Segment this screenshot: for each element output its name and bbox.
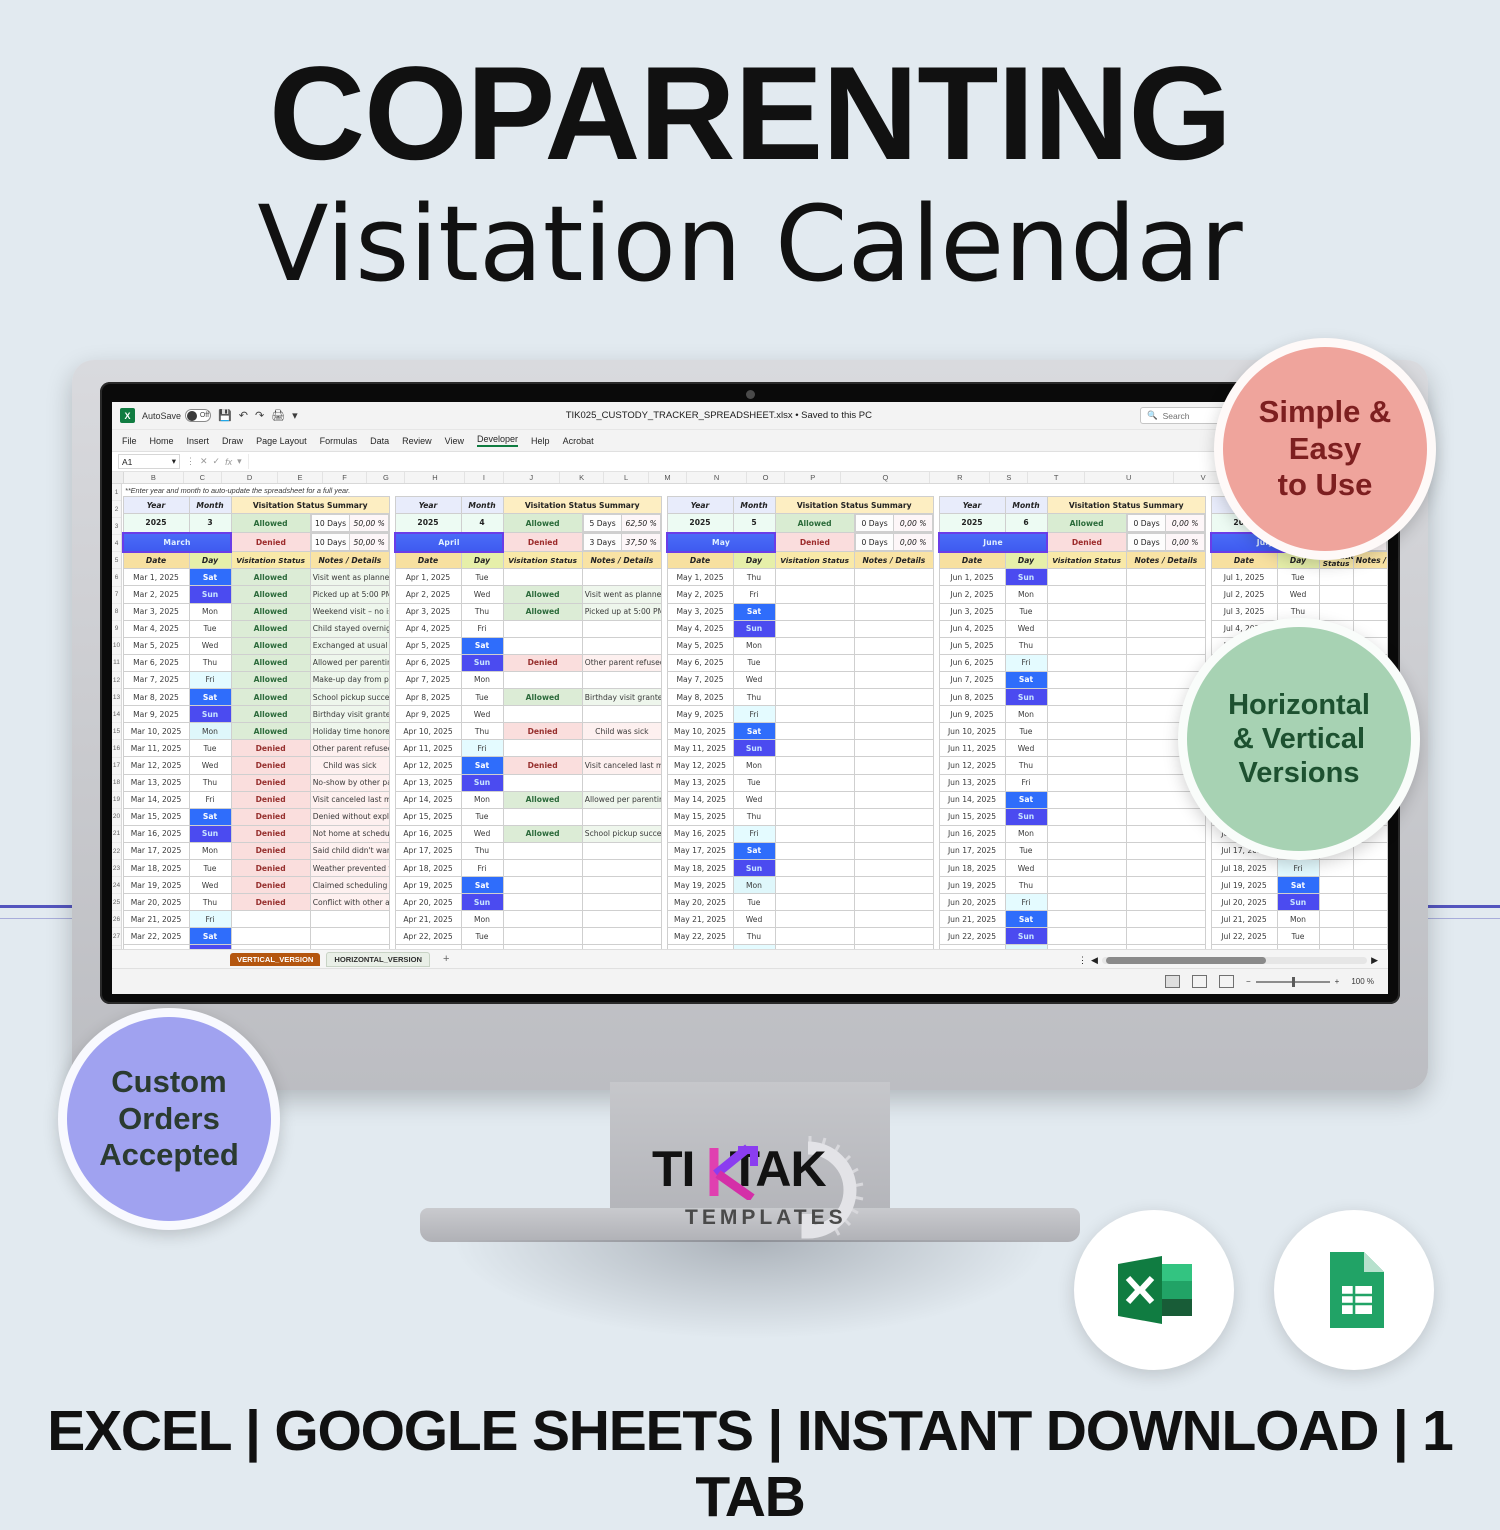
row-header-9[interactable]: 9 xyxy=(112,621,121,638)
header-year[interactable]: Year xyxy=(939,497,1005,514)
cell-date[interactable]: Apr 4, 2025 xyxy=(395,620,461,637)
cell-notes[interactable] xyxy=(1353,569,1387,586)
cell-visitation-status[interactable] xyxy=(1047,859,1126,876)
summary-denied-pct[interactable]: 0,00 % xyxy=(1166,534,1205,551)
cell-date[interactable]: Mar 11, 2025 xyxy=(123,740,189,757)
undo-icon[interactable]: ↶ xyxy=(239,409,248,422)
summary-allowed-pct[interactable]: 0,00 % xyxy=(1166,515,1205,532)
cell-day[interactable]: Tue xyxy=(189,740,231,757)
cell-day[interactable]: Sun xyxy=(1277,894,1319,911)
cell-day[interactable]: Fri xyxy=(1005,894,1047,911)
cell-date[interactable]: Jul 21, 2025 xyxy=(1211,911,1277,928)
cell-date[interactable]: Apr 16, 2025 xyxy=(395,825,461,842)
cell-visitation-status[interactable]: Denied xyxy=(231,842,310,859)
cell-day[interactable]: Thu xyxy=(733,928,775,945)
cell-date[interactable]: Jun 3, 2025 xyxy=(939,603,1005,620)
column-header-R[interactable]: R xyxy=(930,472,990,483)
cell-day[interactable]: Tue xyxy=(733,774,775,791)
insert-function-icon[interactable]: fx xyxy=(225,457,232,467)
cell-notes[interactable] xyxy=(582,706,661,723)
cell-notes[interactable]: School pickup successful xyxy=(582,825,661,842)
col-label-visitation-status[interactable]: Visitation Status xyxy=(503,552,582,569)
add-sheet-button[interactable]: + xyxy=(436,951,456,967)
value-year[interactable]: 2025 xyxy=(667,514,733,533)
cell-date[interactable]: Mar 1, 2025 xyxy=(123,569,189,586)
cell-day[interactable]: Mon xyxy=(1005,706,1047,723)
col-label-visitation-status[interactable]: Visitation Status xyxy=(1047,552,1126,569)
cell-notes[interactable] xyxy=(854,671,933,688)
cell-date[interactable]: Jun 14, 2025 xyxy=(939,791,1005,808)
cell-day[interactable]: Wed xyxy=(189,877,231,894)
cell-visitation-status[interactable] xyxy=(503,740,582,757)
cell-date[interactable]: Apr 1, 2025 xyxy=(395,569,461,586)
sheet-tab-vertical_version[interactable]: VERTICAL_VERSION xyxy=(230,953,320,966)
cell-notes[interactable]: Picked up at 5:00 PM xyxy=(582,603,661,620)
cell-date[interactable]: May 18, 2025 xyxy=(667,859,733,876)
cell-visitation-status[interactable] xyxy=(775,723,854,740)
cell-date[interactable]: May 16, 2025 xyxy=(667,825,733,842)
cell-notes[interactable]: Picked up at 5:00 PM xyxy=(310,586,389,603)
cell-visitation-status[interactable] xyxy=(503,774,582,791)
cell-visitation-status[interactable] xyxy=(1047,894,1126,911)
page-break-preview-icon[interactable] xyxy=(1219,975,1234,988)
cell-date[interactable]: Jun 20, 2025 xyxy=(939,894,1005,911)
name-box[interactable]: A1 ▾ xyxy=(118,454,180,469)
summary-allowed-label[interactable]: Allowed xyxy=(503,514,582,533)
zoom-track[interactable] xyxy=(1256,981,1330,983)
cell-notes[interactable] xyxy=(1126,911,1205,928)
cell-date[interactable]: Mar 12, 2025 xyxy=(123,757,189,774)
cell-visitation-status[interactable] xyxy=(1047,723,1126,740)
summary-denied-pct[interactable]: 50,00 % xyxy=(350,534,389,551)
cell-visitation-status[interactable] xyxy=(503,859,582,876)
summary-denied-days[interactable]: 0 Days xyxy=(1127,534,1166,551)
col-label-day[interactable]: Day xyxy=(461,552,503,569)
cell-notes[interactable] xyxy=(854,603,933,620)
cell-date[interactable]: May 8, 2025 xyxy=(667,689,733,706)
row-header-20[interactable]: 20 xyxy=(112,809,121,826)
cell-notes[interactable] xyxy=(1126,808,1205,825)
cell-notes[interactable] xyxy=(1353,586,1387,603)
cell-visitation-status[interactable] xyxy=(1047,774,1126,791)
horizontal-scrollbar[interactable]: ⋮ ◀ ▶ xyxy=(1078,955,1378,966)
column-header-M[interactable]: M xyxy=(649,472,687,483)
cell-notes[interactable] xyxy=(854,654,933,671)
cell-day[interactable]: Fri xyxy=(1005,774,1047,791)
cell-date[interactable]: Mar 21, 2025 xyxy=(123,911,189,928)
cell-visitation-status[interactable] xyxy=(1047,842,1126,859)
cell-day[interactable]: Thu xyxy=(461,603,503,620)
cell-notes[interactable]: Claimed scheduling conflict xyxy=(310,877,389,894)
column-header-J[interactable]: J xyxy=(504,472,560,483)
cell-day[interactable]: Thu xyxy=(189,894,231,911)
cell-day[interactable]: Sun xyxy=(189,586,231,603)
cell-day[interactable]: Fri xyxy=(1277,859,1319,876)
col-label-date[interactable]: Date xyxy=(123,552,189,569)
cell-visitation-status[interactable]: Allowed xyxy=(231,569,310,586)
summary-denied-days[interactable]: 0 Days xyxy=(855,534,894,551)
cell-notes[interactable] xyxy=(582,928,661,945)
cell-date[interactable]: Jun 6, 2025 xyxy=(939,654,1005,671)
cell-day[interactable]: Thu xyxy=(461,723,503,740)
cell-visitation-status[interactable] xyxy=(775,689,854,706)
cell-day[interactable]: Tue xyxy=(1277,928,1319,945)
cell-date[interactable]: Mar 8, 2025 xyxy=(123,689,189,706)
col-label-notes[interactable]: Notes / Details xyxy=(854,552,933,569)
cell-notes[interactable] xyxy=(854,894,933,911)
cell-date[interactable]: May 3, 2025 xyxy=(667,603,733,620)
cell-notes[interactable] xyxy=(1126,894,1205,911)
cell-visitation-status[interactable] xyxy=(1319,569,1353,586)
cell-visitation-status[interactable] xyxy=(503,842,582,859)
cell-visitation-status[interactable]: Allowed xyxy=(231,586,310,603)
cell-date[interactable]: Mar 13, 2025 xyxy=(123,774,189,791)
cell-notes[interactable] xyxy=(854,842,933,859)
cell-day[interactable]: Mon xyxy=(733,637,775,654)
cell-visitation-status[interactable] xyxy=(503,808,582,825)
value-year[interactable]: 2025 xyxy=(939,514,1005,533)
cell-visitation-status[interactable] xyxy=(1047,586,1126,603)
row-header-16[interactable]: 16 xyxy=(112,740,121,757)
cell-date[interactable]: May 6, 2025 xyxy=(667,654,733,671)
summary-denied-days[interactable]: 3 Days xyxy=(583,534,622,551)
cell-date[interactable]: Jun 22, 2025 xyxy=(939,928,1005,945)
cell-notes[interactable] xyxy=(582,569,661,586)
cell-date[interactable]: Mar 15, 2025 xyxy=(123,808,189,825)
cell-visitation-status[interactable] xyxy=(1319,603,1353,620)
month-name-cell[interactable]: June xyxy=(939,533,1047,552)
cell-visitation-status[interactable]: Denied xyxy=(231,740,310,757)
cell-day[interactable]: Mon xyxy=(733,757,775,774)
row-header-6[interactable]: 6 xyxy=(112,569,121,586)
cell-date[interactable]: Jun 13, 2025 xyxy=(939,774,1005,791)
cell-date[interactable]: Jul 2, 2025 xyxy=(1211,586,1277,603)
row-header-22[interactable]: 22 xyxy=(112,843,121,860)
cell-notes[interactable] xyxy=(1126,603,1205,620)
row-header-21[interactable]: 21 xyxy=(112,826,121,843)
summary-allowed-label[interactable]: Allowed xyxy=(1047,514,1126,533)
column-header-C[interactable]: C xyxy=(184,472,222,483)
cell-day[interactable]: Mon xyxy=(1005,825,1047,842)
cell-date[interactable]: Apr 10, 2025 xyxy=(395,723,461,740)
summary-allowed-label[interactable]: Allowed xyxy=(231,514,310,533)
value-year[interactable]: 2025 xyxy=(395,514,461,533)
cell-notes[interactable] xyxy=(854,825,933,842)
cell-visitation-status[interactable] xyxy=(1047,740,1126,757)
cell-notes[interactable] xyxy=(582,620,661,637)
cell-visitation-status[interactable]: Allowed xyxy=(231,706,310,723)
cell-day[interactable]: Tue xyxy=(461,569,503,586)
cell-visitation-status[interactable]: Denied xyxy=(503,654,582,671)
cell-day[interactable]: Mon xyxy=(733,877,775,894)
column-header-E[interactable]: E xyxy=(278,472,323,483)
cell-visitation-status[interactable] xyxy=(1319,894,1353,911)
cell-day[interactable]: Sat xyxy=(189,689,231,706)
cell-notes[interactable] xyxy=(854,586,933,603)
scroll-left-arrow-icon[interactable]: ◀ xyxy=(1091,955,1098,966)
cell-visitation-status[interactable] xyxy=(1319,877,1353,894)
ribbon-tab-page-layout[interactable]: Page Layout xyxy=(256,436,307,446)
cell-notes[interactable]: Other parent refused visit xyxy=(582,654,661,671)
cell-date[interactable]: Apr 17, 2025 xyxy=(395,842,461,859)
zoom-out-icon[interactable]: − xyxy=(1246,977,1251,986)
cell-date[interactable]: May 4, 2025 xyxy=(667,620,733,637)
cell-date[interactable]: May 1, 2025 xyxy=(667,569,733,586)
cell-day[interactable]: Sat xyxy=(733,603,775,620)
cell-visitation-status[interactable] xyxy=(775,842,854,859)
cell-notes[interactable]: No-show by other parent xyxy=(310,774,389,791)
cell-date[interactable]: Apr 9, 2025 xyxy=(395,706,461,723)
cell-visitation-status[interactable]: Allowed xyxy=(231,637,310,654)
cell-notes[interactable] xyxy=(1126,877,1205,894)
expand-formula-bar-icon[interactable]: ▾ xyxy=(237,456,242,467)
cell-visitation-status[interactable]: Denied xyxy=(503,723,582,740)
cell-notes[interactable] xyxy=(1353,928,1387,945)
cell-date[interactable]: Apr 12, 2025 xyxy=(395,757,461,774)
cell-day[interactable]: Sun xyxy=(1005,569,1047,586)
cell-visitation-status[interactable] xyxy=(1047,637,1126,654)
cell-date[interactable]: Mar 20, 2025 xyxy=(123,894,189,911)
cell-day[interactable]: Sun xyxy=(1005,808,1047,825)
ribbon-tab-home[interactable]: Home xyxy=(150,436,174,446)
column-header-G[interactable]: G xyxy=(367,472,405,483)
month-name-cell[interactable]: March xyxy=(123,533,231,552)
cell-date[interactable]: Apr 22, 2025 xyxy=(395,928,461,945)
cell-notes[interactable] xyxy=(1353,842,1387,859)
ribbon-tab-acrobat[interactable]: Acrobat xyxy=(563,436,594,446)
summary-allowed-pct[interactable]: 50,00 % xyxy=(350,515,389,532)
cell-notes[interactable] xyxy=(854,774,933,791)
cell-day[interactable]: Fri xyxy=(189,671,231,688)
cell-day[interactable]: Sat xyxy=(189,569,231,586)
cell-visitation-status[interactable] xyxy=(503,894,582,911)
col-label-notes[interactable]: Notes / Details xyxy=(582,552,661,569)
cell-notes[interactable] xyxy=(310,928,389,945)
cell-day[interactable]: Fri xyxy=(461,620,503,637)
cell-date[interactable]: Jun 2, 2025 xyxy=(939,586,1005,603)
cell-visitation-status[interactable] xyxy=(503,706,582,723)
cell-visitation-status[interactable] xyxy=(1047,808,1126,825)
cell-day[interactable]: Sun xyxy=(1005,689,1047,706)
cell-date[interactable]: Mar 9, 2025 xyxy=(123,706,189,723)
cell-notes[interactable] xyxy=(1353,877,1387,894)
cell-day[interactable]: Tue xyxy=(1005,723,1047,740)
cell-notes[interactable] xyxy=(854,808,933,825)
cell-notes[interactable] xyxy=(1126,654,1205,671)
cell-day[interactable]: Thu xyxy=(1005,757,1047,774)
cell-day[interactable]: Sat xyxy=(733,842,775,859)
col-label-visitation-status[interactable]: Visitation Status xyxy=(231,552,310,569)
summary-allowed-pct[interactable]: 62,50 % xyxy=(622,515,661,532)
cell-visitation-status[interactable] xyxy=(775,740,854,757)
cell-visitation-status[interactable] xyxy=(503,877,582,894)
cell-date[interactable]: Jul 18, 2025 xyxy=(1211,859,1277,876)
value-month[interactable]: 6 xyxy=(1005,514,1047,533)
scroll-options-icon[interactable]: ⋮ xyxy=(1078,955,1087,966)
cell-date[interactable]: Apr 2, 2025 xyxy=(395,586,461,603)
header-visitation-status-summary[interactable]: Visitation Status Summary xyxy=(231,497,390,514)
cell-day[interactable]: Tue xyxy=(733,894,775,911)
header-month[interactable]: Month xyxy=(1005,497,1047,514)
cell-day[interactable]: Tue xyxy=(461,928,503,945)
page-layout-view-icon[interactable] xyxy=(1192,975,1207,988)
enter-icon[interactable]: ✓ xyxy=(213,456,221,467)
column-header-P[interactable]: P xyxy=(785,472,841,483)
cell-visitation-status[interactable] xyxy=(775,671,854,688)
cell-notes[interactable] xyxy=(310,911,389,928)
column-header-B[interactable]: B xyxy=(124,472,184,483)
cell-visitation-status[interactable] xyxy=(775,620,854,637)
cell-date[interactable]: Jun 9, 2025 xyxy=(939,706,1005,723)
column-header-U[interactable]: U xyxy=(1085,472,1174,483)
cell-visitation-status[interactable] xyxy=(1319,859,1353,876)
scroll-track[interactable] xyxy=(1102,957,1367,964)
cell-date[interactable]: Mar 18, 2025 xyxy=(123,859,189,876)
cell-visitation-status[interactable] xyxy=(775,825,854,842)
cell-day[interactable]: Fri xyxy=(189,791,231,808)
cell-date[interactable]: Jul 1, 2025 xyxy=(1211,569,1277,586)
cell-visitation-status[interactable]: Allowed xyxy=(231,603,310,620)
cell-visitation-status[interactable] xyxy=(775,894,854,911)
cell-visitation-status[interactable] xyxy=(1047,620,1126,637)
ribbon-tab-data[interactable]: Data xyxy=(370,436,389,446)
cell-date[interactable]: Apr 13, 2025 xyxy=(395,774,461,791)
cell-visitation-status[interactable] xyxy=(1047,603,1126,620)
cell-notes[interactable] xyxy=(582,740,661,757)
summary-denied-days[interactable]: 10 Days xyxy=(311,534,350,551)
cell-date[interactable]: Mar 6, 2025 xyxy=(123,654,189,671)
cell-date[interactable]: Jun 4, 2025 xyxy=(939,620,1005,637)
cell-date[interactable]: Mar 10, 2025 xyxy=(123,723,189,740)
scroll-right-arrow-icon[interactable]: ▶ xyxy=(1371,955,1378,966)
cell-notes[interactable] xyxy=(582,637,661,654)
cell-notes[interactable]: Visit canceled last minute xyxy=(582,757,661,774)
column-header-L[interactable]: L xyxy=(604,472,649,483)
cell-day[interactable]: Sun xyxy=(1005,928,1047,945)
cell-date[interactable]: Jul 20, 2025 xyxy=(1211,894,1277,911)
zoom-slider[interactable]: − + xyxy=(1246,977,1339,986)
cell-date[interactable]: Apr 11, 2025 xyxy=(395,740,461,757)
summary-denied-label[interactable]: Denied xyxy=(775,533,854,552)
cell-visitation-status[interactable]: Denied xyxy=(503,757,582,774)
row-header-8[interactable]: 8 xyxy=(112,604,121,621)
cell-notes[interactable] xyxy=(582,859,661,876)
cell-day[interactable]: Wed xyxy=(189,637,231,654)
formula-input[interactable] xyxy=(248,454,1382,469)
row-header-11[interactable]: 11 xyxy=(112,655,121,672)
cell-notes[interactable] xyxy=(582,842,661,859)
cell-notes[interactable]: Allowed per parenting plan xyxy=(582,791,661,808)
row-header-27[interactable]: 27 xyxy=(112,928,121,945)
cell-date[interactable]: Apr 14, 2025 xyxy=(395,791,461,808)
cell-day[interactable]: Wed xyxy=(1005,740,1047,757)
cell-visitation-status[interactable]: Allowed xyxy=(231,689,310,706)
cell-date[interactable]: Jun 10, 2025 xyxy=(939,723,1005,740)
summary-denied-pct[interactable]: 37,50 % xyxy=(622,534,661,551)
cell-day[interactable]: Wed xyxy=(733,671,775,688)
column-header-S[interactable]: S xyxy=(990,472,1028,483)
cell-notes[interactable]: Not home at scheduled time xyxy=(310,825,389,842)
cell-date[interactable]: Jun 19, 2025 xyxy=(939,877,1005,894)
col-label-day[interactable]: Day xyxy=(733,552,775,569)
cell-day[interactable]: Sun xyxy=(733,859,775,876)
cell-day[interactable]: Wed xyxy=(1005,620,1047,637)
cell-notes[interactable] xyxy=(854,740,933,757)
col-label-date[interactable]: Date xyxy=(1211,552,1277,569)
cell-day[interactable]: Mon xyxy=(189,723,231,740)
cell-date[interactable]: Apr 7, 2025 xyxy=(395,671,461,688)
more-options-icon[interactable]: ⋮ xyxy=(186,456,195,467)
cell-day[interactable]: Wed xyxy=(189,757,231,774)
ribbon-tab-bar[interactable]: FileHomeInsertDrawPage LayoutFormulasDat… xyxy=(112,430,1388,452)
cell-visitation-status[interactable]: Denied xyxy=(231,791,310,808)
cell-notes[interactable] xyxy=(854,791,933,808)
cell-date[interactable]: Jun 7, 2025 xyxy=(939,671,1005,688)
cell-date[interactable]: Apr 6, 2025 xyxy=(395,654,461,671)
cell-day[interactable]: Tue xyxy=(461,689,503,706)
summary-allowed-days[interactable]: 5 Days xyxy=(583,515,622,532)
cell-visitation-status[interactable] xyxy=(775,654,854,671)
cell-date[interactable]: May 7, 2025 xyxy=(667,671,733,688)
col-label-date[interactable]: Date xyxy=(667,552,733,569)
ribbon-tab-view[interactable]: View xyxy=(445,436,464,446)
cell-notes[interactable]: Visit went as planned xyxy=(310,569,389,586)
cell-date[interactable]: May 12, 2025 xyxy=(667,757,733,774)
cell-visitation-status[interactable] xyxy=(1047,689,1126,706)
cell-visitation-status[interactable] xyxy=(231,928,310,945)
cell-date[interactable]: Mar 3, 2025 xyxy=(123,603,189,620)
cell-day[interactable]: Thu xyxy=(1005,637,1047,654)
column-header-T[interactable]: T xyxy=(1028,472,1084,483)
cell-day[interactable]: Thu xyxy=(1005,877,1047,894)
cell-day[interactable]: Sat xyxy=(1005,791,1047,808)
cell-visitation-status[interactable] xyxy=(775,569,854,586)
cell-visitation-status[interactable] xyxy=(775,877,854,894)
cell-date[interactable]: May 17, 2025 xyxy=(667,842,733,859)
cell-visitation-status[interactable]: Allowed xyxy=(503,791,582,808)
cell-visitation-status[interactable] xyxy=(775,911,854,928)
cell-date[interactable]: May 9, 2025 xyxy=(667,706,733,723)
cell-day[interactable]: Fri xyxy=(461,740,503,757)
cell-day[interactable]: Sat xyxy=(461,757,503,774)
cell-notes[interactable] xyxy=(854,757,933,774)
cell-notes[interactable] xyxy=(582,894,661,911)
ribbon-tab-help[interactable]: Help xyxy=(531,436,550,446)
summary-allowed-pct[interactable]: 0,00 % xyxy=(894,515,933,532)
summary-denied-label[interactable]: Denied xyxy=(231,533,310,552)
cell-notes[interactable]: Child was sick xyxy=(582,723,661,740)
col-label-date[interactable]: Date xyxy=(939,552,1005,569)
cancel-icon[interactable]: ✕ xyxy=(200,456,208,467)
cell-visitation-status[interactable] xyxy=(775,859,854,876)
row-header-4[interactable]: 4 xyxy=(112,535,121,552)
cell-visitation-status[interactable] xyxy=(1047,928,1126,945)
cell-visitation-status[interactable] xyxy=(503,671,582,688)
ribbon-tab-draw[interactable]: Draw xyxy=(222,436,243,446)
cell-visitation-status[interactable] xyxy=(775,586,854,603)
cell-day[interactable]: Thu xyxy=(733,569,775,586)
cell-day[interactable]: Thu xyxy=(461,842,503,859)
cell-date[interactable]: Jun 15, 2025 xyxy=(939,808,1005,825)
header-month[interactable]: Month xyxy=(189,497,231,514)
cell-date[interactable]: Mar 16, 2025 xyxy=(123,825,189,842)
cell-day[interactable]: Mon xyxy=(461,671,503,688)
value-year[interactable]: 2025 xyxy=(123,514,189,533)
cell-date[interactable]: Mar 19, 2025 xyxy=(123,877,189,894)
cell-date[interactable]: Jun 11, 2025 xyxy=(939,740,1005,757)
cell-visitation-status[interactable] xyxy=(503,637,582,654)
cell-date[interactable]: Jun 21, 2025 xyxy=(939,911,1005,928)
